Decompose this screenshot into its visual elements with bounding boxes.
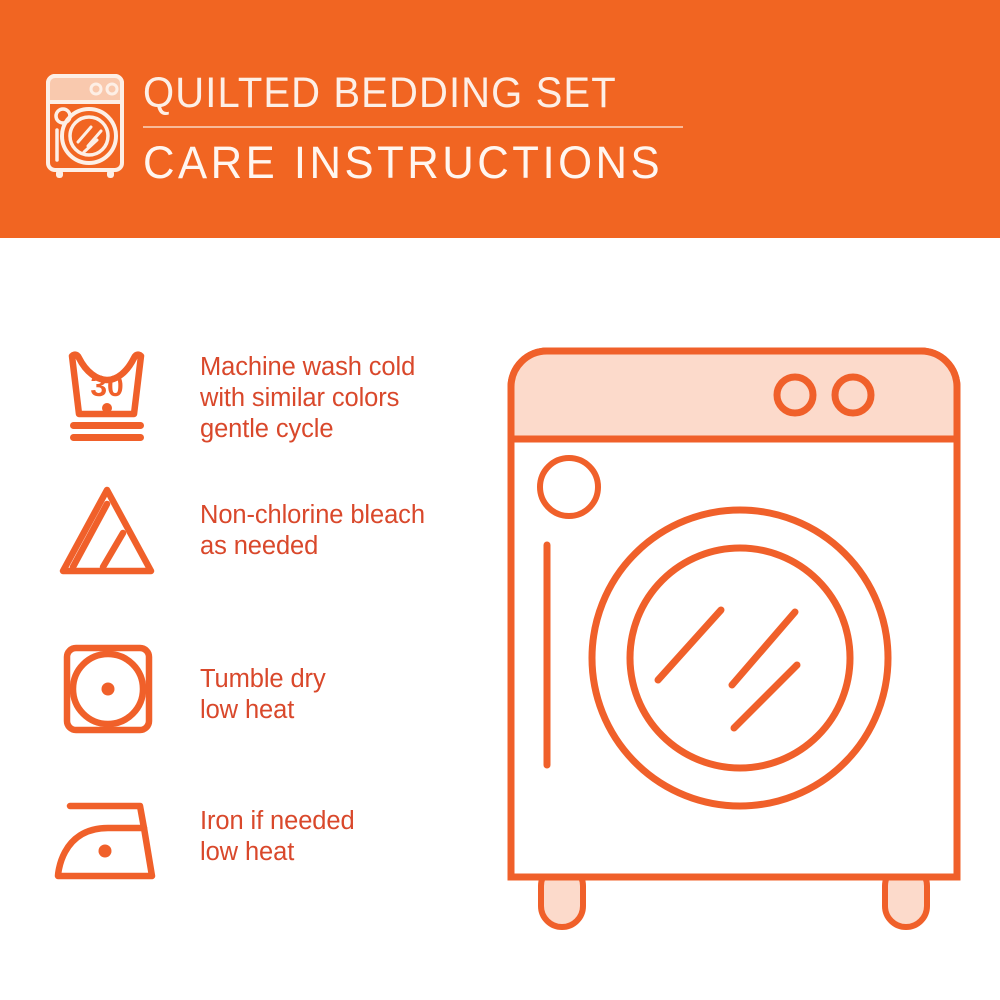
care-text-line: Non-chlorine bleach [200,500,425,531]
washing-machine-icon [44,72,126,180]
care-text-line: low heat [200,837,355,868]
control-panel [511,351,957,439]
header-banner: QUILTED BEDDING SET CARE INSTRUCTIONS [0,0,1000,238]
care-text-tumble-dry: Tumble dry low heat [200,664,326,726]
iron-low-heat-icon [48,788,166,900]
care-text-line: with similar colors [200,383,415,414]
care-text-bleach: Non-chlorine bleach as needed [200,500,425,562]
care-text-line: Machine wash cold [200,352,415,383]
care-text-line: as needed [200,531,425,562]
wash-basin-30-gentle-icon: 30 [48,338,166,450]
washing-machine-illustration [495,335,975,945]
care-text-line: Iron if needed [200,806,355,837]
page-title: QUILTED BEDDING SET [143,68,701,118]
care-instruction-list: 30 Machine wash cold with similar colors… [0,238,500,1000]
care-instructions-page: QUILTED BEDDING SET CARE INSTRUCTIONS 30… [0,0,1000,1000]
header-title-group: QUILTED BEDDING SET [143,68,743,118]
title-divider [143,126,683,128]
care-text-line: gentle cycle [200,414,415,445]
page-subtitle: CARE INSTRUCTIONS [143,136,663,190]
tumble-dry-low-heat-icon [48,638,166,750]
care-text-iron: Iron if needed low heat [200,806,355,868]
care-text-line: Tumble dry [200,664,326,695]
wash-temperature-label: 30 [90,370,123,403]
care-text-wash: Machine wash cold with similar colors ge… [200,352,415,445]
non-chlorine-bleach-triangle-icon [48,478,166,590]
care-text-line: low heat [200,695,326,726]
